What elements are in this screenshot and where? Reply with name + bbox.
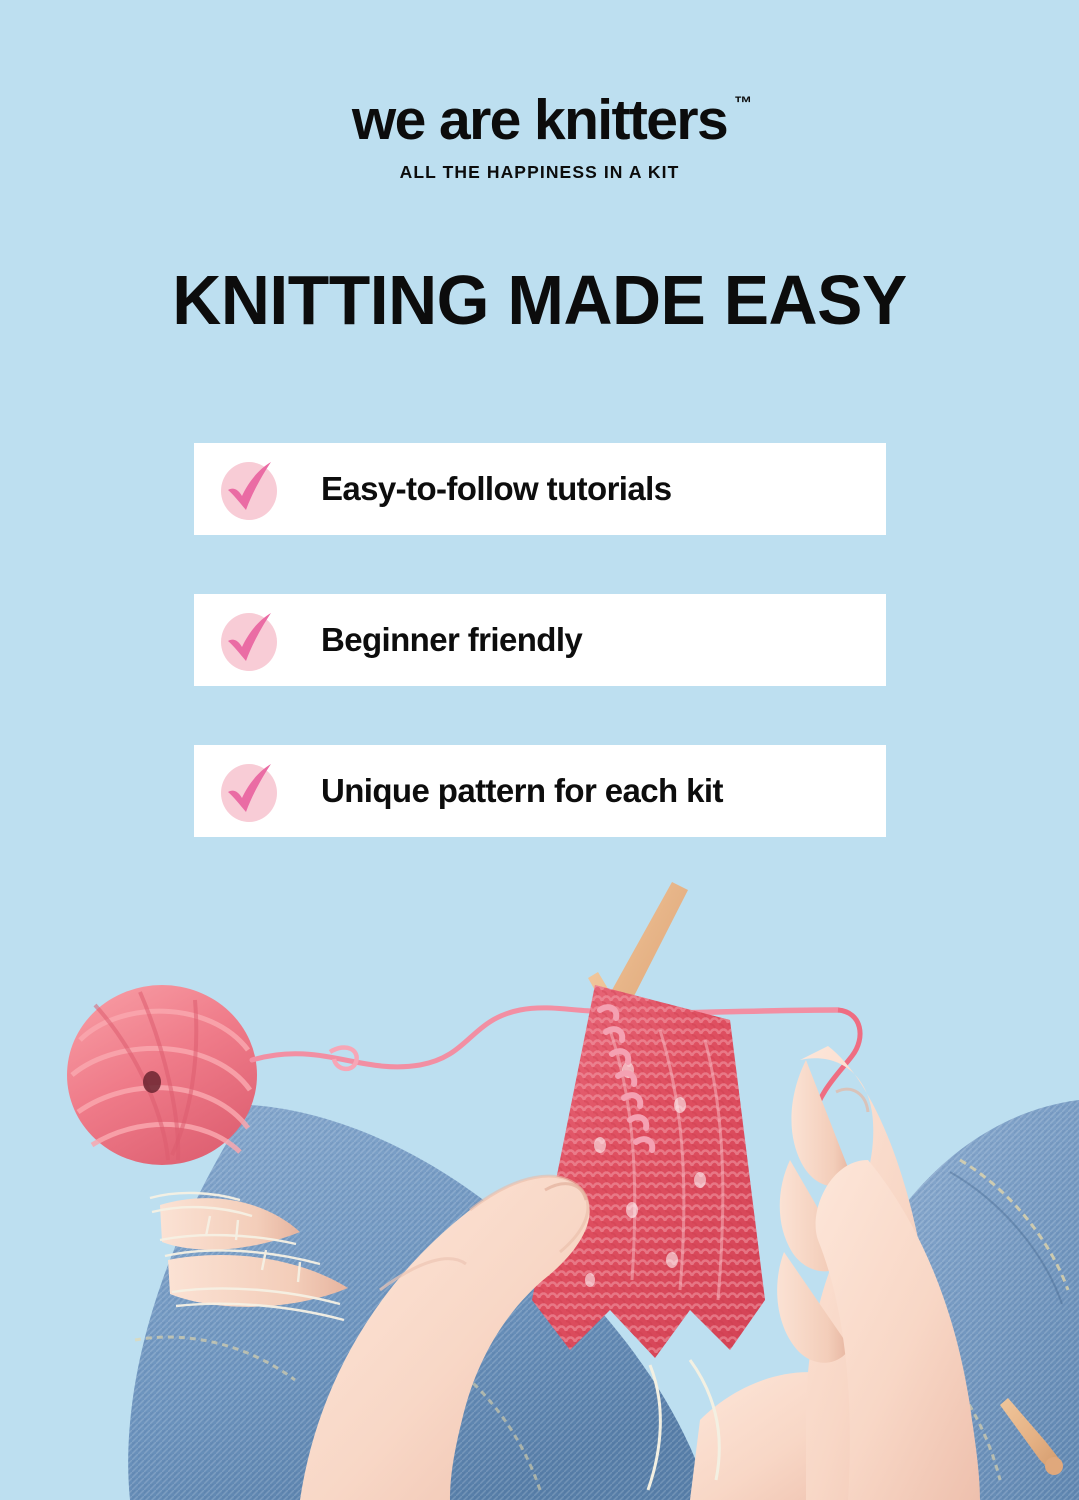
feature-card: Beginner friendly [194,594,886,686]
check-icon [219,609,281,671]
page-title: KNITTING MADE EASY [16,265,1063,335]
feature-list: Easy-to-follow tutorials Beginner friend… [194,443,886,896]
yarn-ball [67,985,257,1165]
brand-logo: we are knitters ™ ALL THE HAPPINESS IN A… [0,92,1079,183]
brand-name-text: we are knitters [352,88,727,152]
hero-photo [0,860,1079,1500]
check-icon [219,760,281,822]
check-icon [219,458,281,520]
feature-label: Beginner friendly [321,621,582,659]
feature-label: Unique pattern for each kit [321,772,723,810]
knitting-photo-illustration [0,860,1079,1500]
feature-card: Unique pattern for each kit [194,745,886,837]
check-mark-glyph [219,760,281,822]
feature-card: Easy-to-follow tutorials [194,443,886,535]
check-mark-glyph [219,458,281,520]
trademark-icon: ™ [734,94,752,112]
brand-tagline: ALL THE HAPPINESS IN A KIT [0,162,1079,183]
check-mark-glyph [219,609,281,671]
poster-canvas: we are knitters ™ ALL THE HAPPINESS IN A… [0,0,1079,1500]
feature-label: Easy-to-follow tutorials [321,470,671,508]
brand-name: we are knitters ™ [352,92,727,149]
